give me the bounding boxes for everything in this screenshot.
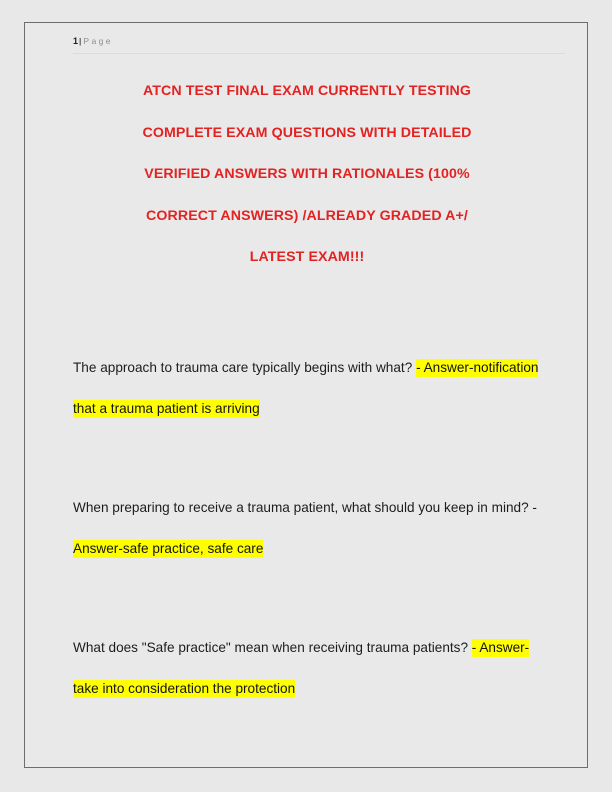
question-answer-gap: - (529, 500, 537, 515)
header-page-number: 1 (73, 36, 78, 46)
question-text: What does "Safe practice" mean when rece… (73, 640, 468, 655)
qa-paragraph: The approach to trauma care typically be… (73, 347, 547, 429)
document-page: 1|Page ATCN TEST FINAL EXAM CURRENTLY TE… (24, 22, 588, 768)
document-title: ATCN TEST FINAL EXAM CURRENTLY TESTING C… (85, 71, 529, 279)
qa-block: When preparing to receive a trauma patie… (73, 487, 547, 569)
qa-block: The approach to trauma care typically be… (73, 347, 547, 429)
qa-paragraph: What does "Safe practice" mean when rece… (73, 627, 547, 709)
qa-paragraph: When preparing to receive a trauma patie… (73, 487, 547, 569)
header-page-label: Page (83, 36, 112, 46)
title-line-3: VERIFIED ANSWERS WITH RATIONALES (100% (85, 154, 529, 196)
qa-block: What does "Safe practice" mean when rece… (73, 627, 547, 709)
title-line-1: ATCN TEST FINAL EXAM CURRENTLY TESTING (85, 71, 529, 113)
document-body: The approach to trauma care typically be… (73, 333, 547, 722)
answer-highlight: Answer-safe practice, safe care (73, 540, 263, 558)
title-line-4: CORRECT ANSWERS) /ALREADY GRADED A+/ (85, 196, 529, 238)
title-line-2: COMPLETE EXAM QUESTIONS WITH DETAILED (85, 113, 529, 155)
question-text: The approach to trauma care typically be… (73, 360, 412, 375)
title-line-5: LATEST EXAM!!! (85, 237, 529, 279)
header-divider (73, 53, 565, 54)
question-text: When preparing to receive a trauma patie… (73, 500, 529, 515)
header-separator: | (79, 36, 81, 46)
header-line: 1|Page (73, 35, 561, 47)
